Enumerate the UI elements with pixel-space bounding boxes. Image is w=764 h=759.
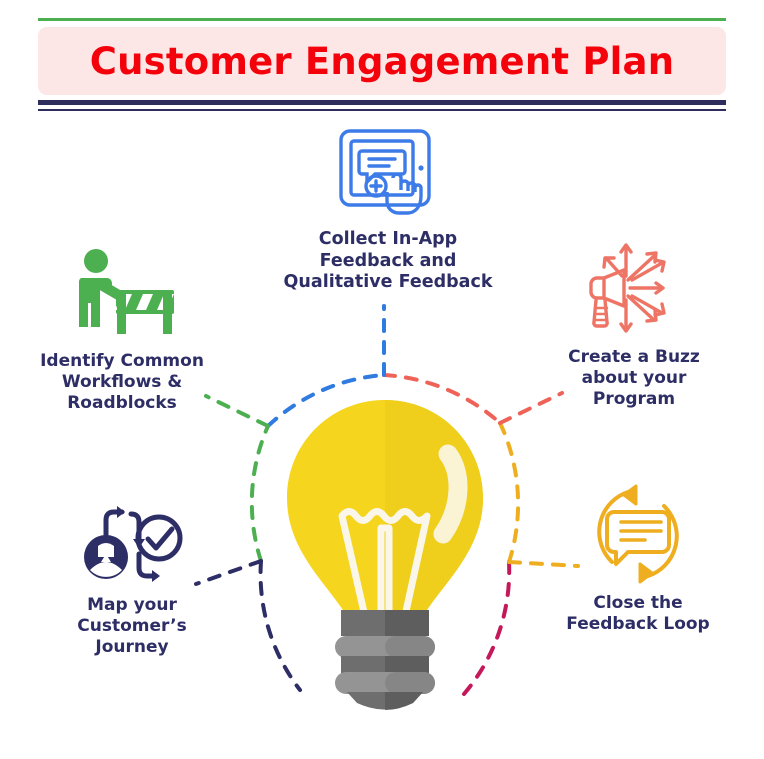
feedback-loop-icon: [588, 484, 688, 584]
node-map-customer-journey[interactable]: Map your Customer’s Journey: [56, 498, 208, 658]
node-label: Close the Feedback Loop: [566, 593, 709, 635]
node-label: Create a Buzz about your Program: [568, 347, 700, 410]
loop-arrow-top: [624, 486, 636, 504]
node-label: Collect In-App Feedback and Qualitative …: [284, 229, 493, 294]
base-band-1-shade: [385, 636, 435, 658]
lightbulb-svg: [285, 398, 485, 710]
plus-sign: [371, 181, 381, 191]
base-collar-shade: [385, 610, 429, 636]
arc-green-segment: [252, 426, 268, 561]
lightbulb-icon: [285, 398, 485, 710]
barrier-leg-right: [163, 290, 172, 334]
barrier-leg-left: [117, 290, 126, 334]
loop-arc-right: [648, 506, 677, 576]
bubble-lines: [369, 159, 395, 166]
tablet-home-dot: [418, 165, 423, 170]
journey-arrow-1-head: [117, 506, 125, 518]
node-label: Identify Common Workflows & Roadblocks: [40, 351, 204, 414]
bubble-text-lines: [621, 522, 661, 540]
loop-speech-bubble: [607, 512, 669, 564]
node-create-a-buzz[interactable]: Create a Buzz about your Program: [546, 238, 722, 410]
person-roadblock-icon: [67, 246, 177, 342]
journey-checkmark-icon: [80, 498, 184, 586]
check-circle: [138, 517, 180, 559]
journey-arrow-3-head: [152, 570, 160, 582]
node-close-feedback-loop[interactable]: Close the Feedback Loop: [550, 484, 726, 635]
base-gap-1-shade: [385, 656, 429, 674]
infographic-canvas: Customer Engagement Plan: [0, 0, 764, 759]
base-band-2-shade: [385, 672, 435, 694]
bulb-shade: [385, 400, 483, 610]
loop-arrow-bottom: [640, 564, 652, 582]
node-collect-in-app-feedback[interactable]: Collect In-App Feedback and Qualitative …: [274, 126, 502, 294]
node-identify-common-workflows[interactable]: Identify Common Workflows & Roadblocks: [16, 246, 228, 414]
base-tip-shade: [385, 692, 423, 710]
tablet-feedback-icon: [336, 126, 440, 220]
checkmark: [148, 529, 172, 548]
avatar-group: [84, 535, 128, 579]
megaphone-neck: [591, 278, 604, 298]
person-head: [84, 249, 108, 273]
megaphone-arrows-icon: [580, 238, 688, 338]
arc-amber-segment: [500, 423, 518, 562]
node-label: Map your Customer’s Journey: [77, 595, 186, 658]
